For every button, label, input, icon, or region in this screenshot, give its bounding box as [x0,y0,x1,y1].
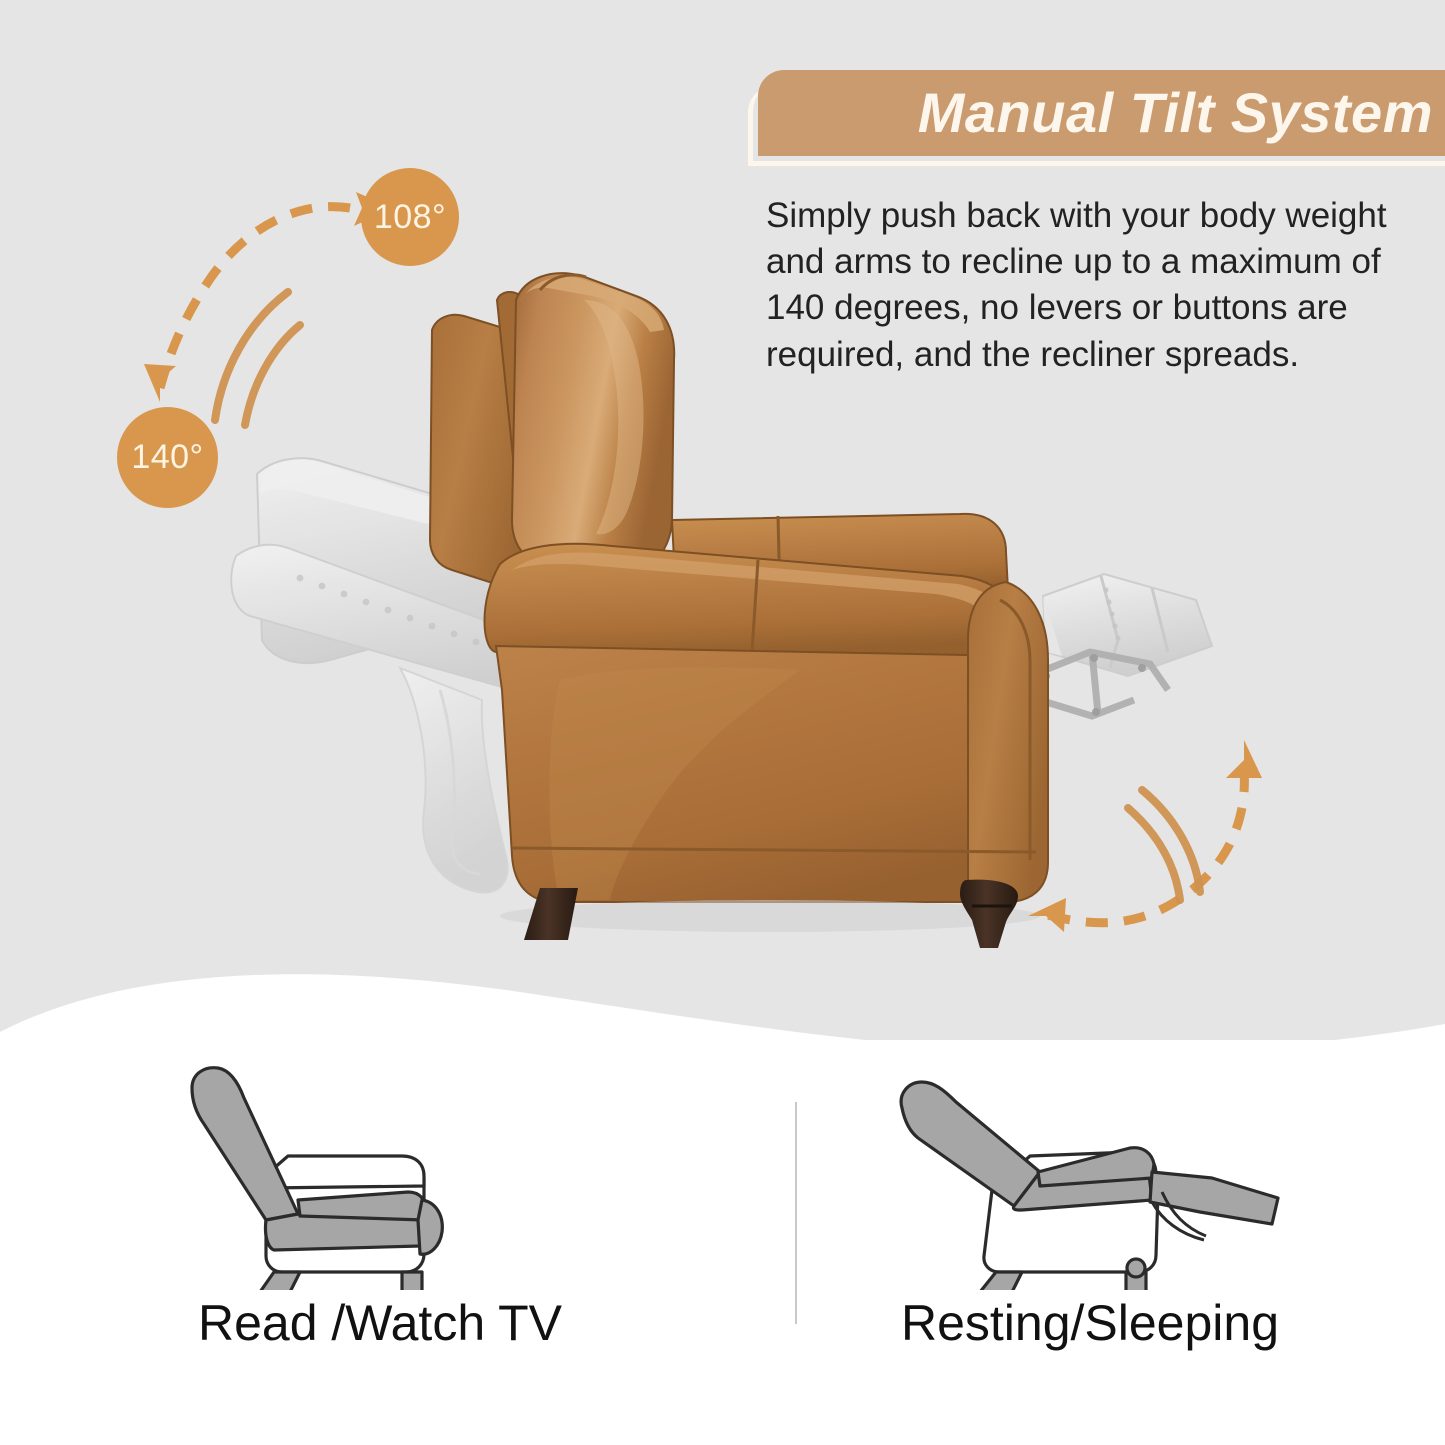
recliner-reclined-icon [880,1060,1300,1290]
angle-badge-140-label: 140° [131,438,203,477]
product-scene: 108° 140° Manual Tilt System Simply push… [0,0,1445,1070]
infographic-page: 108° 140° Manual Tilt System Simply push… [0,0,1445,1445]
page-title: Manual Tilt System [918,85,1433,141]
angle-badge-140: 140° [117,407,218,508]
angle-badge-108-label: 108° [374,198,446,237]
mode-read-watch-tv-label: Read /Watch TV [198,1294,562,1352]
mode-resting-sleeping-label: Resting/Sleeping [901,1294,1279,1352]
mode-resting-sleeping: Resting/Sleeping [770,1060,1410,1352]
front-turned-leg [960,880,1018,948]
angle-badge-108: 108° [361,168,459,266]
mode-read-watch-tv: Read /Watch TV [60,1060,700,1352]
title-banner: Manual Tilt System [748,70,1445,166]
recliner-upright-icon [170,1060,590,1290]
description-text: Simply push back with your body weight a… [766,193,1442,378]
usage-modes-panel: Read /Watch TV [0,1040,1445,1445]
ghost-footrest [1040,574,1212,716]
banner-fill: Manual Tilt System [758,70,1445,156]
